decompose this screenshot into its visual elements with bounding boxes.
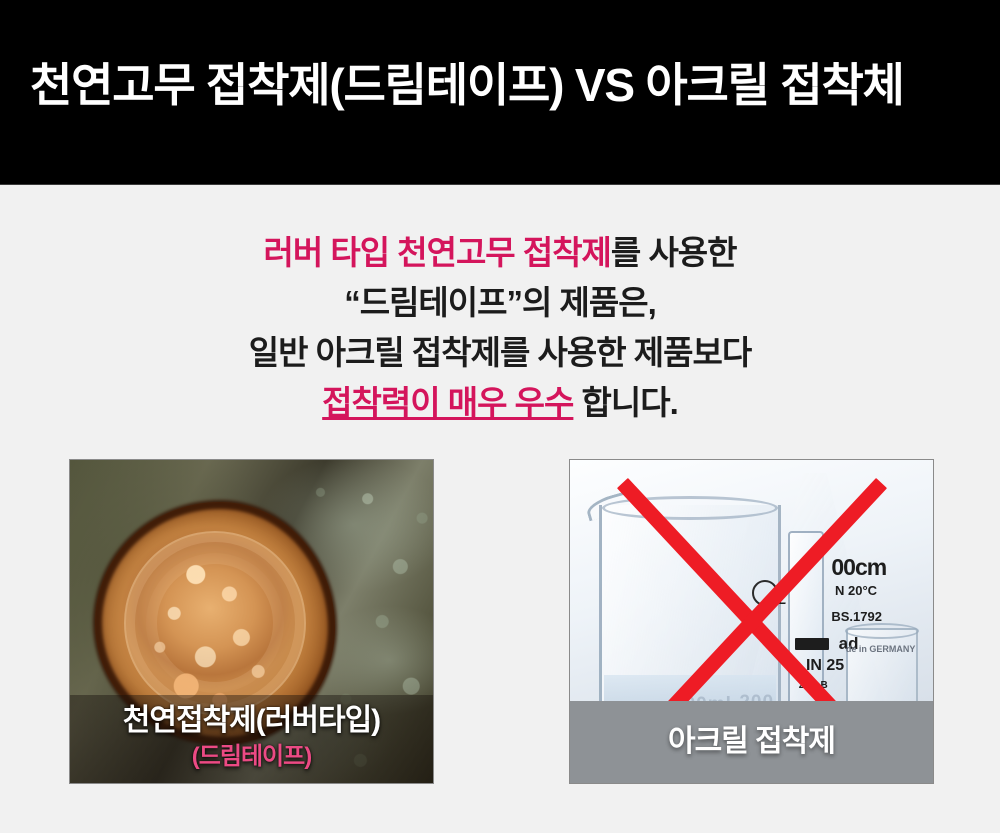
copy-line-1-highlight: 러버 타입 천연고무 접착제 xyxy=(263,234,610,271)
page-title: 천연고무 접착제(드림테이프) VS 아크릴 접착체 xyxy=(30,54,904,116)
black-label-badge xyxy=(795,638,829,650)
copy-line-3: 일반 아크릴 접착제를 사용한 제품보다 xyxy=(0,328,1000,378)
volume-label: 00cm xyxy=(831,554,886,581)
copy-line-3-plain: 일반 아크릴 접착제를 사용한 제품보다 xyxy=(249,334,751,371)
header-banner: 천연고무 접착제(드림테이프) VS 아크릴 접착체 xyxy=(0,0,1000,185)
copy-line-2-plain: “드림테이프”의 제품은, xyxy=(344,284,656,321)
infographic-page: 천연고무 접착제(드림테이프) VS 아크릴 접착체 러버 타입 천연고무 접착… xyxy=(0,0,1000,833)
copy-line-4-highlight: 접착력이 매우 우수 xyxy=(322,384,573,421)
caption-natural-main: 천연접착제(러버타입) xyxy=(70,701,433,741)
caption-acrylic-main: 아크릴 접착제 xyxy=(570,723,933,761)
copy-line-1-plain: 를 사용한 xyxy=(611,234,737,271)
copy-line-4-plain: 합니다. xyxy=(573,384,677,421)
temperature-label: N 20°C xyxy=(835,583,877,598)
caption-acrylic: 아크릴 접착제 xyxy=(570,701,933,783)
copy-line-2: “드림테이프”의 제품은, xyxy=(0,278,1000,328)
body-copy-block: 러버 타입 천연고무 접착제를 사용한 “드림테이프”의 제품은, 일반 아크릴… xyxy=(0,228,1000,428)
caption-natural-rubber: 천연접착제(러버타입) (드림테이프) xyxy=(70,695,433,783)
brand-label: 'BL xyxy=(766,592,786,607)
copy-line-4: 접착력이 매우 우수 합니다. xyxy=(0,378,1000,428)
cylinder-in-label: IN 25 xyxy=(806,657,844,675)
cylinder-temp-label: 20'c B xyxy=(799,680,828,691)
figure-natural-rubber: 천연접착제(러버타입) (드림테이프) xyxy=(69,459,434,784)
figure-acrylic: 600ml 200 'BL 00cm N 20°C BS.1792 IN 25 … xyxy=(569,459,934,784)
maker-origin-label: de in GERMANY xyxy=(846,644,916,654)
caption-natural-sub: (드림테이프) xyxy=(70,741,433,773)
standard-label: BS.1792 xyxy=(831,609,882,624)
copy-line-1: 러버 타입 천연고무 접착제를 사용한 xyxy=(0,228,1000,278)
